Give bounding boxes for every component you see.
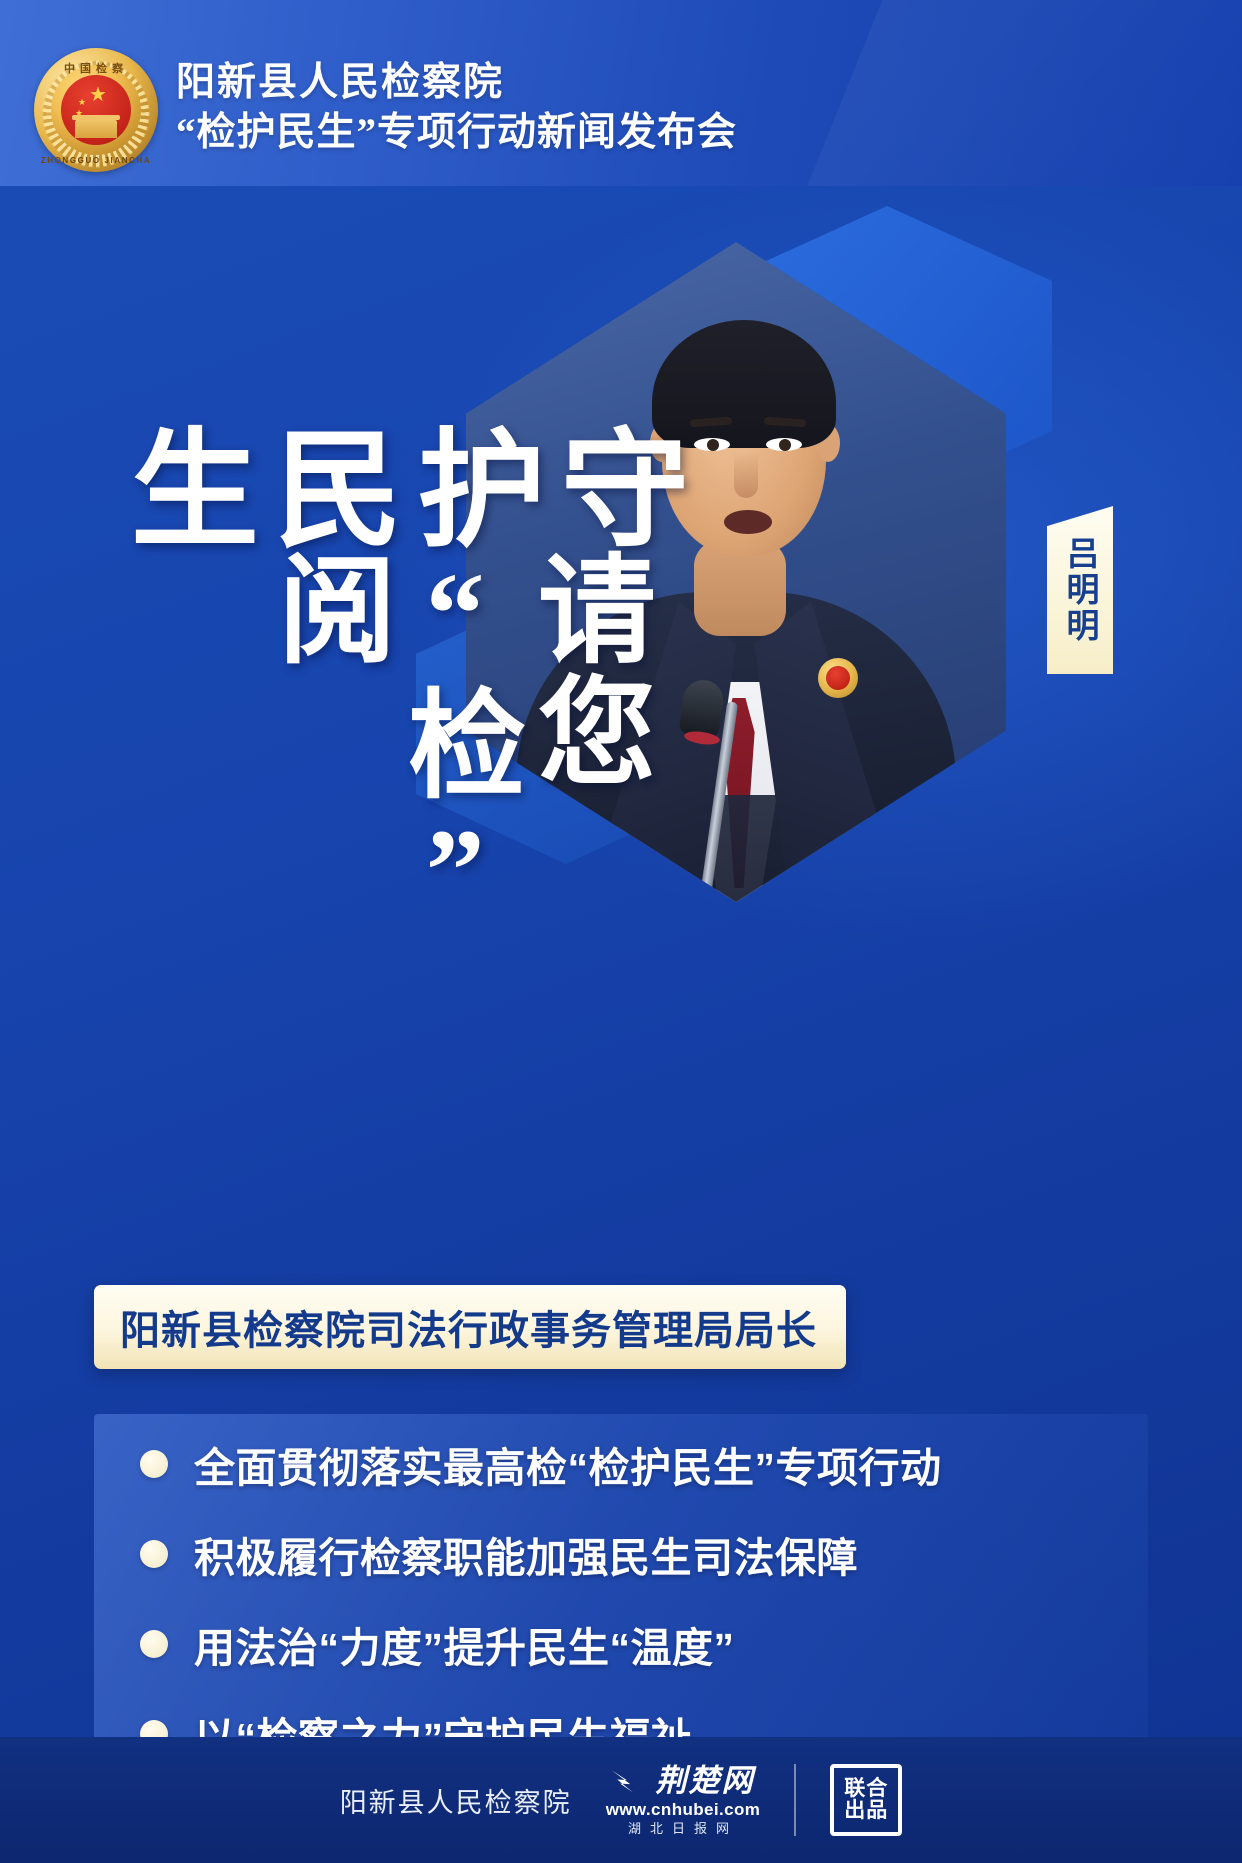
poster-body: 吕明明 守护民生 请您“检”阅 阳新县检察院司法行政事务管理局局长 全面贯彻落实… (0, 186, 1242, 1863)
seal-line-1: 联合 (844, 1778, 888, 1800)
poster-header: ★ ★ ★ ★ 中国检察 ZHONGGUO JIANCHA 阳新县人民检察院 “… (0, 0, 1242, 186)
speaker-name: 吕明明 (1056, 536, 1104, 644)
footer-org-name: 阳新县人民检察院 (340, 1781, 572, 1820)
speaker-name-tag: 吕明明 (1047, 506, 1113, 674)
role-banner: 阳新县检察院司法行政事务管理局局长 (94, 1285, 846, 1369)
role-text: 阳新县检察院司法行政事务管理局局长 (120, 1298, 817, 1356)
bullet-dot-icon (140, 1540, 168, 1568)
cnhubei-url: www.cnhubei.com (606, 1801, 761, 1818)
cnhubei-subtitle: 湖北日报网 (628, 1822, 738, 1835)
cnhubei-logo: 荆楚网 www.cnhubei.com 湖北日报网 (606, 1765, 761, 1835)
seal-line-2: 出品 (844, 1800, 888, 1822)
cnhubei-name: 荆楚网 (655, 1765, 754, 1796)
slogan-line-1: 守护民生 (110, 422, 683, 556)
procuratorate-emblem-icon: ★ ★ ★ ★ 中国检察 ZHONGGUO JIANCHA (34, 48, 158, 172)
list-item-label: 积极履行检察职能加强民生司法保障 (194, 1524, 858, 1584)
list-item-label: 全面贯彻落实最高检“检护民生”专项行动 (194, 1434, 942, 1494)
list-item: 用法治“力度”提升民生“温度” (140, 1616, 735, 1672)
emblem-arc-top-text: 中国检察 (34, 60, 158, 76)
bullet-dot-icon (140, 1450, 168, 1478)
list-item: 全面贯彻落实最高检“检护民生”专项行动 (140, 1436, 942, 1492)
list-item: 积极履行检察职能加强民生司法保障 (140, 1526, 858, 1582)
lapel-emblem-icon (818, 658, 858, 698)
slogan-line-2: 请您“检”阅 (260, 548, 649, 940)
emblem-arc-bottom-text: ZHONGGUO JIANCHA (34, 156, 158, 165)
poster-footer: 阳新县人民检察院 荆楚网 www.cnhubei.com 湖北日报网 联合 出品 (0, 1737, 1242, 1863)
list-item-label: 用法治“力度”提升民生“温度” (194, 1614, 735, 1674)
bullet-dot-icon (140, 1630, 168, 1658)
poster-root: ★ ★ ★ ★ 中国检察 ZHONGGUO JIANCHA 阳新县人民检察院 “… (0, 0, 1242, 1863)
page-title: 阳新县人民检察院 (176, 58, 737, 108)
header-title-block: 阳新县人民检察院 “检护民生”专项行动新闻发布会 (176, 58, 737, 158)
footer-divider (794, 1764, 796, 1836)
page-subtitle: “检护民生”专项行动新闻发布会 (176, 108, 737, 158)
joint-production-seal: 联合 出品 (830, 1764, 902, 1836)
cnhubei-swoosh-icon (611, 1768, 647, 1794)
